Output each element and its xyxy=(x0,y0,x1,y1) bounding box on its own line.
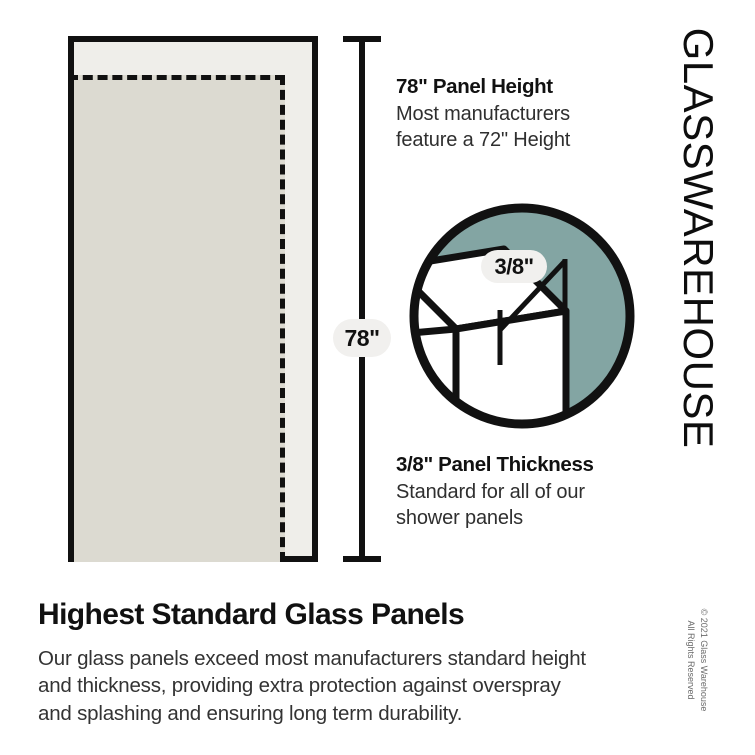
dimension-stem xyxy=(359,36,365,562)
footer-body: Our glass panels exceed most manufacture… xyxy=(38,645,658,727)
thickness-callout: 3/8" Panel Thickness Standard for all of… xyxy=(396,452,656,532)
footer-body-line-2: and thickness, providing extra protectio… xyxy=(38,672,658,699)
thickness-detail-illustration: 3/8" xyxy=(408,202,636,430)
panel-72-inch-dashed-outline xyxy=(68,75,285,562)
copyright-line-1: © 2021 Glass Warehouse xyxy=(697,609,710,712)
thickness-callout-body-line-1: Standard for all of our xyxy=(396,479,656,505)
copyright-line-2: All Rights Reserved xyxy=(684,609,697,712)
footer-heading: Highest Standard Glass Panels xyxy=(38,598,658,631)
footer-copy-block: Highest Standard Glass Panels Our glass … xyxy=(38,598,658,727)
height-callout: 78" Panel Height Most manufacturers feat… xyxy=(396,74,656,154)
thickness-callout-body-line-2: shower panels xyxy=(396,505,656,531)
brand-wordmark-text: GLASSWAREHOUSE xyxy=(674,28,722,449)
height-dimension-badge: 78" xyxy=(333,319,391,357)
infographic-canvas: 78" 78" Panel Height Most manufacturers … xyxy=(0,0,755,755)
height-callout-body: Most manufacturers feature a 72" Height xyxy=(396,101,656,154)
dimension-cap-bottom xyxy=(343,556,381,562)
copyright-text: © 2021 Glass Warehouse All Rights Reserv… xyxy=(684,609,710,712)
thickness-detail-svg xyxy=(408,202,636,430)
footer-body-line-3: and splashing and ensuring long term dur… xyxy=(38,700,658,727)
height-dimension-line: 78" xyxy=(340,36,384,562)
thickness-fraction-badge: 3/8" xyxy=(481,250,547,283)
footer-body-line-1: Our glass panels exceed most manufacture… xyxy=(38,645,658,672)
thickness-callout-title: 3/8" Panel Thickness xyxy=(396,452,656,477)
glass-panel-illustration xyxy=(68,36,318,562)
thickness-callout-body: Standard for all of our shower panels xyxy=(396,479,656,532)
height-callout-body-line-1: Most manufacturers xyxy=(396,101,656,127)
height-callout-title: 78" Panel Height xyxy=(396,74,656,99)
brand-wordmark: GLASSWAREHOUSE xyxy=(668,18,728,458)
height-callout-body-line-2: feature a 72" Height xyxy=(396,127,656,153)
copyright-notice: © 2021 Glass Warehouse All Rights Reserv… xyxy=(672,594,722,726)
